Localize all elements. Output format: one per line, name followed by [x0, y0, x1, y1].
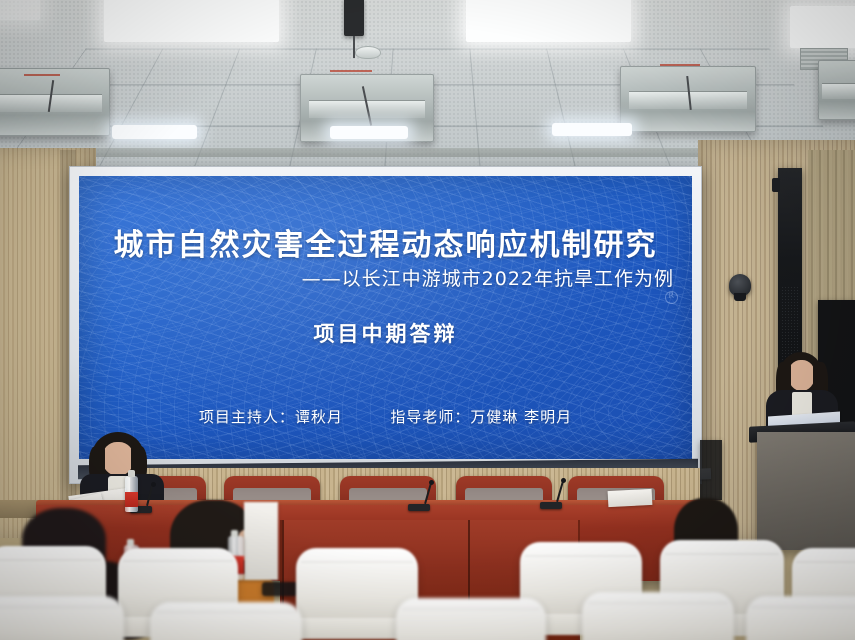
ceiling-light-fixture	[818, 60, 855, 120]
lectern	[757, 432, 855, 550]
light-panel-icon	[552, 123, 632, 136]
fixture-marker	[660, 64, 700, 66]
fixture-marker	[24, 74, 60, 76]
light-panel-icon	[112, 125, 197, 139]
presentation-screen: 城市自然灾害全过程动态响应机制研究 ——以长江中游城市2022年抗旱工作为例 项…	[79, 176, 692, 459]
ceiling-projector-mount	[344, 0, 364, 36]
slide-advisor: 指导老师：万健琳 李明月	[390, 406, 572, 427]
slide-content: 城市自然灾害全过程动态响应机制研究 ——以长江中游城市2022年抗旱工作为例 项…	[79, 176, 692, 459]
cable	[353, 36, 355, 58]
fixture-marker	[330, 70, 372, 72]
light-panel-icon	[104, 0, 279, 42]
audience-chair[interactable]	[746, 596, 855, 640]
bottle-cap	[128, 470, 135, 477]
light-panel-icon	[790, 6, 855, 48]
bottle-label	[125, 492, 138, 507]
sprinkler-icon	[355, 46, 381, 59]
conference-room-photo: 城市自然灾害全过程动态响应机制研究 ——以长江中游城市2022年抗旱工作为例 项…	[0, 0, 855, 640]
wall-equipment-box	[700, 440, 722, 500]
slide-credits: 项目主持人：谭秋月 指导老师：万健琳 李明月	[79, 406, 692, 427]
audience-chair[interactable]	[150, 602, 302, 640]
slide-host: 项目主持人：谭秋月	[199, 406, 343, 427]
audience-device	[262, 582, 298, 596]
document-sheet	[608, 489, 653, 507]
slide-section-label: 项目中期答辩	[79, 318, 692, 348]
audience-chair[interactable]	[0, 596, 124, 640]
water-bottle	[125, 476, 138, 512]
camera-icon	[729, 274, 751, 296]
audience-chair[interactable]	[396, 598, 546, 640]
slide-subtitle: ——以长江中游城市2022年抗旱工作为例	[302, 264, 674, 291]
document-sheet	[244, 502, 278, 580]
light-panel-icon	[0, 0, 40, 20]
slide-watermark	[665, 291, 678, 304]
light-panel-icon	[330, 126, 408, 139]
face	[788, 360, 815, 391]
audience-chair[interactable]	[582, 592, 734, 640]
ceiling-light-fixture	[0, 68, 110, 136]
bottle-cap	[231, 530, 238, 537]
slide-title: 城市自然灾害全过程动态响应机制研究	[79, 220, 692, 264]
light-panel-icon	[466, 0, 631, 42]
bottle-cap	[127, 539, 134, 546]
